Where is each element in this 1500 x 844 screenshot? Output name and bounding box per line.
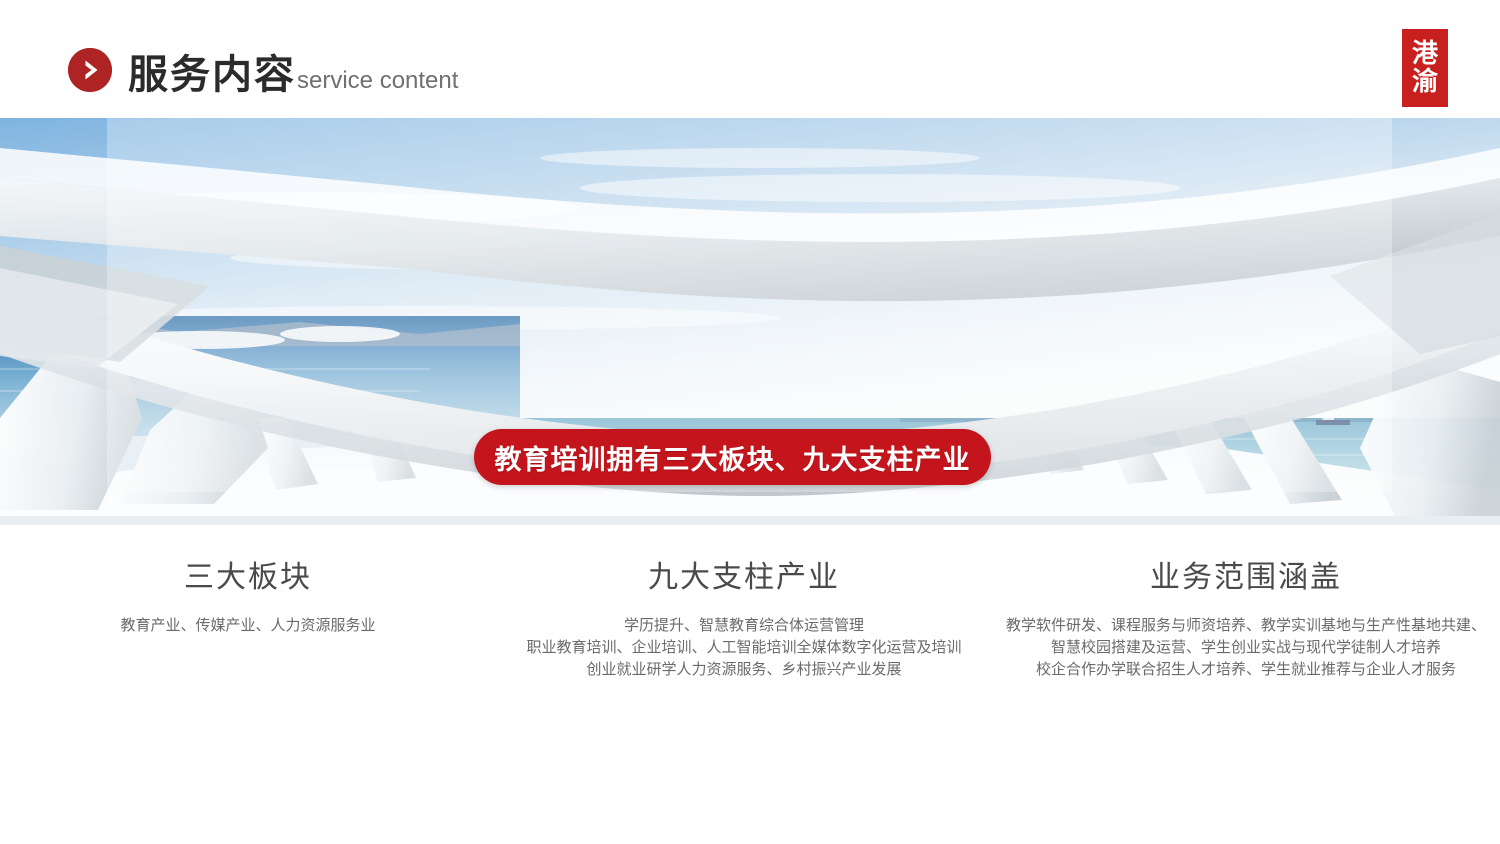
content-columns: 三大板块 教育产业、传媒产业、人力资源服务业 九大支柱产业 学历提升、智慧教育综… — [0, 560, 1500, 680]
column-line: 校企合作办学联合招生人才培养、学生就业推荐与企业人才服务 — [1006, 658, 1486, 680]
column-heading: 三大板块 — [14, 560, 482, 596]
column-line: 智慧校园搭建及运营、学生创业实战与现代学徒制人才培养 — [1006, 636, 1486, 658]
chevron-right-circle-icon — [68, 48, 112, 92]
page-title: 服务内容 — [128, 55, 296, 95]
slide-root: 服务内容 service content 港 渝 — [0, 0, 1500, 844]
slide-header: 服务内容 service content 港 渝 — [0, 0, 1500, 118]
column-line: 创业就业研学人力资源服务、乡村振兴产业发展 — [510, 658, 978, 680]
column-line: 教育产业、传媒产业、人力资源服务业 — [14, 614, 482, 636]
seal-char-bottom: 渝 — [1412, 69, 1438, 96]
seal-char-top: 港 — [1412, 41, 1438, 68]
column-heading: 业务范围涵盖 — [1006, 560, 1486, 596]
seal-logo-inner: 港 渝 — [1404, 31, 1446, 105]
column-nine-pillars: 九大支柱产业 学历提升、智慧教育综合体运营管理 职业教育培训、企业培训、人工智能… — [496, 560, 992, 680]
column-body: 教育产业、传媒产业、人力资源服务业 — [14, 614, 482, 636]
column-body: 学历提升、智慧教育综合体运营管理 职业教育培训、企业培训、人工智能培训全媒体数字… — [510, 614, 978, 680]
column-line: 教学软件研发、课程服务与师资培养、教学实训基地与生产性基地共建、 — [1006, 614, 1486, 636]
seal-logo: 港 渝 — [1402, 29, 1448, 107]
column-line: 学历提升、智慧教育综合体运营管理 — [510, 614, 978, 636]
highlight-banner-text: 教育培训拥有三大板块、九大支柱产业 — [495, 438, 971, 477]
column-line: 职业教育培训、企业培训、人工智能培训全媒体数字化运营及培训 — [510, 636, 978, 658]
column-heading: 九大支柱产业 — [510, 560, 978, 596]
column-three-sectors: 三大板块 教育产业、传媒产业、人力资源服务业 — [0, 560, 496, 680]
highlight-banner: 教育培训拥有三大板块、九大支柱产业 — [474, 429, 991, 485]
page-subtitle: service content — [297, 69, 458, 93]
column-business-scope: 业务范围涵盖 教学软件研发、课程服务与师资培养、教学实训基地与生产性基地共建、 … — [992, 560, 1500, 680]
column-body: 教学软件研发、课程服务与师资培养、教学实训基地与生产性基地共建、 智慧校园搭建及… — [1006, 614, 1486, 680]
page-title-group: 服务内容 service content — [68, 48, 458, 95]
